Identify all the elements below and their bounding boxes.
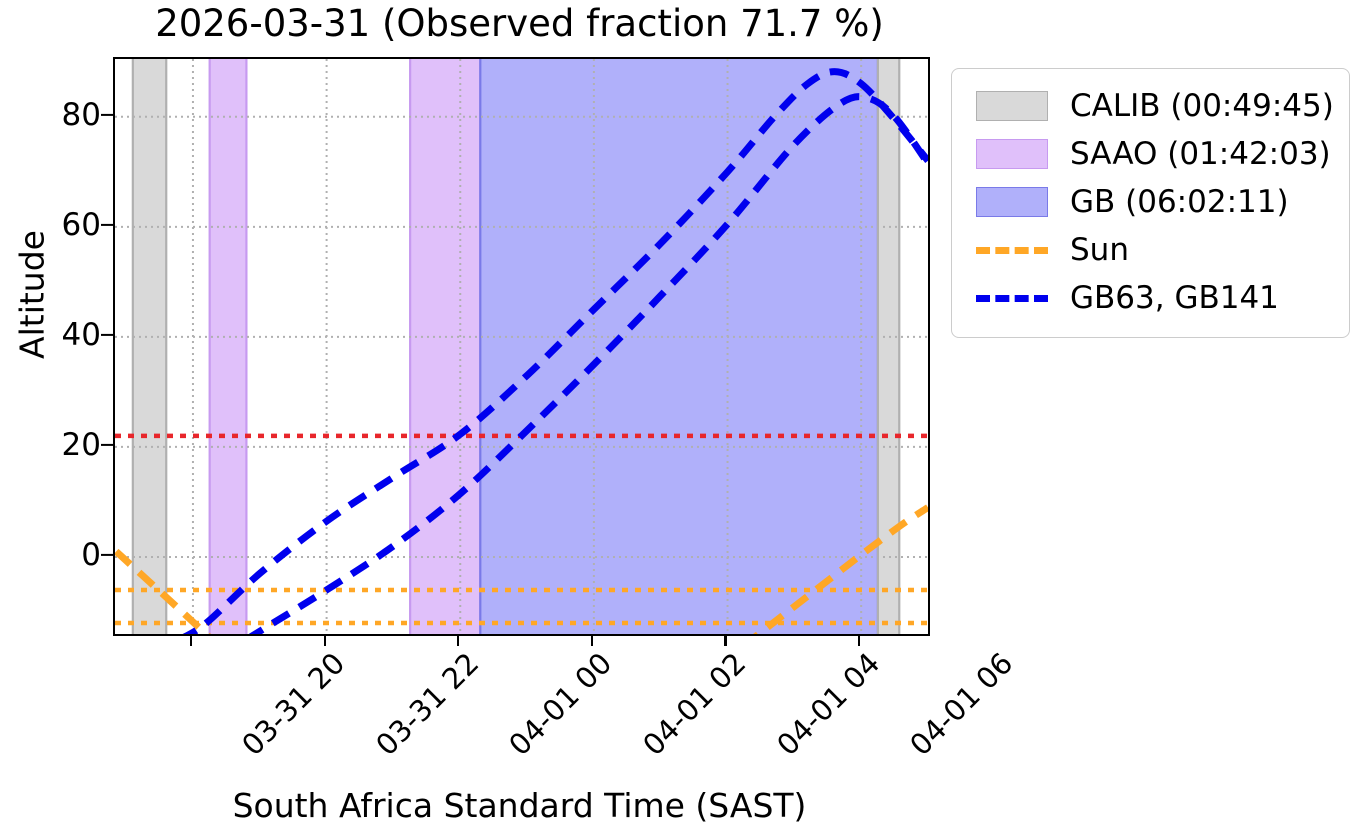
y-axis-ticks [101,57,113,632]
y-tick-label: 20 [62,427,101,463]
legend-swatch [966,139,1058,169]
band-calib [133,59,166,634]
y-tick-label: 0 [81,537,101,573]
altitude-chart-figure: 2026-03-31 (Observed fraction 71.7 %) Al… [0,0,1370,836]
band-saao [410,59,480,634]
y-tick-mark [101,334,113,336]
x-tick-mark [324,634,326,646]
x-tick-mark [858,634,860,646]
band-gb [480,59,878,634]
x-axis-tick-labels: 03-31 2003-31 2204-01 0004-01 0204-01 04… [113,646,1013,776]
x-tick-mark [457,634,459,646]
legend-label: SAAO (01:42:03) [1058,136,1331,172]
legend-item[interactable]: SAAO (01:42:03) [966,130,1335,178]
x-tick-label: 03-31 22 [369,646,485,762]
legend-swatch [966,247,1058,254]
band-saao [210,59,247,634]
y-tick-mark [101,224,113,226]
chart-legend: CALIB (00:49:45)SAAO (01:42:03)GB (06:02… [951,68,1350,338]
legend-patch-icon [976,91,1048,121]
chart-title: 2026-03-31 (Observed fraction 71.7 %) [113,4,926,45]
y-tick-label: 80 [62,97,101,133]
plot-area [113,57,930,636]
legend-item[interactable]: Sun [966,226,1335,274]
legend-label: GB (06:02:11) [1058,184,1289,220]
legend-line-icon [976,295,1048,302]
legend-label: Sun [1058,232,1129,268]
x-axis-label: South Africa Standard Time (SAST) [113,786,926,825]
x-tick-mark [190,634,192,646]
x-tick-label: 04-01 06 [903,646,1019,762]
legend-patch-icon [976,187,1048,217]
legend-item[interactable]: GB63, GB141 [966,274,1335,322]
y-tick-mark [101,554,113,556]
y-tick-label: 40 [62,317,101,353]
y-axis-tick-labels: 020406080 [0,57,101,632]
legend-label: GB63, GB141 [1058,280,1279,316]
legend-swatch [966,91,1058,121]
plot-canvas [115,59,928,634]
band-calib [878,59,899,634]
x-tick-label: 04-01 00 [502,646,618,762]
x-tick-mark [591,634,593,646]
legend-line-icon [976,247,1048,254]
x-tick-label: 03-31 20 [235,646,351,762]
x-tick-label: 04-01 04 [770,646,886,762]
legend-swatch [966,295,1058,302]
legend-label: CALIB (00:49:45) [1058,88,1334,124]
legend-item[interactable]: GB (06:02:11) [966,178,1335,226]
legend-patch-icon [976,139,1048,169]
y-tick-mark [101,444,113,446]
y-tick-mark [101,114,113,116]
x-tick-label: 04-01 02 [636,646,752,762]
legend-swatch [966,187,1058,217]
x-tick-mark [724,634,726,646]
x-axis-ticks [113,634,926,646]
legend-item[interactable]: CALIB (00:49:45) [966,82,1335,130]
y-tick-label: 60 [62,207,101,243]
